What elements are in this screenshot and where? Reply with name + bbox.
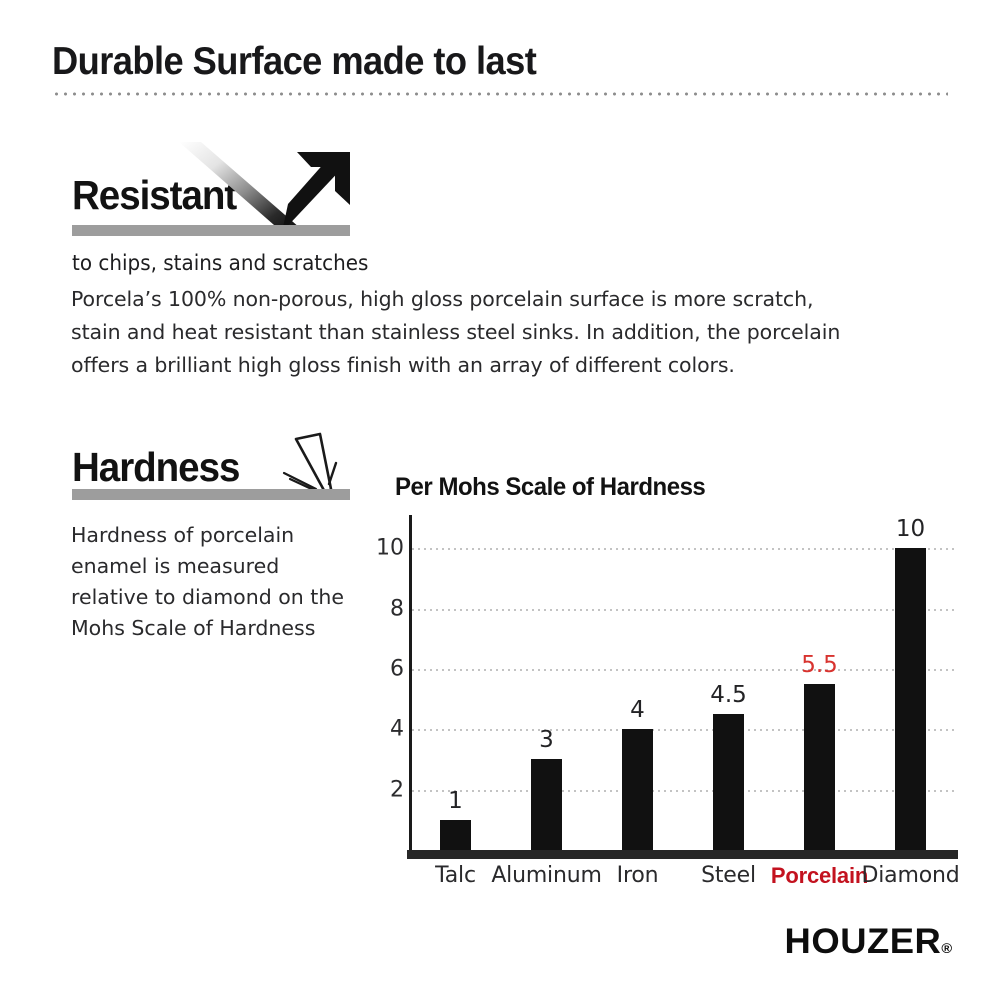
page-title: Durable Surface made to last (52, 40, 536, 84)
resistant-underline-bar (72, 225, 350, 236)
x-axis-line (407, 850, 958, 859)
check-arrow-icon (168, 142, 358, 232)
x-axis-category-label: Iron (617, 863, 659, 888)
resistant-body-line: offers a brilliant high gloss finish wit… (71, 349, 901, 382)
bar-value-label: 4.5 (710, 682, 747, 708)
y-axis-tick-label: 4 (364, 717, 404, 742)
chart-bar (804, 684, 835, 850)
chart-bar (713, 714, 744, 850)
chart-bar (531, 759, 562, 850)
x-axis-category-label: Aluminum (491, 863, 601, 888)
gridline (410, 609, 956, 611)
y-axis-tick-label: 8 (364, 596, 404, 621)
bar-value-label: 10 (896, 516, 925, 542)
resistant-body-line: Porcela’s 100% non-porous, high gloss po… (71, 283, 901, 316)
x-axis-category-label: Diamond (862, 863, 960, 888)
hardness-body: Hardness of porcelain enamel is measured… (71, 520, 371, 644)
logo-wordmark: HOUZER (784, 922, 941, 961)
mohs-hardness-chart: Per Mohs Scale of Hardness 246810 1344.5… (360, 465, 960, 905)
y-axis-tick-label: 10 (364, 536, 404, 561)
y-axis-ticks: 246810 (360, 518, 404, 850)
bar-value-label: 5.5 (801, 652, 838, 678)
chart-plot-area: 1344.55.510 (410, 518, 956, 850)
hardness-body-line: Hardness of porcelain (71, 520, 371, 551)
gridline (410, 669, 956, 671)
bar-value-label: 4 (630, 697, 645, 723)
x-axis-category-label: Steel (701, 863, 756, 888)
hardness-heading: Hardness (72, 447, 250, 488)
gridline (410, 548, 956, 550)
chart-bar (895, 548, 926, 850)
y-axis-tick-label: 2 (364, 777, 404, 802)
houzer-logo: HOUZER® (784, 922, 952, 962)
registered-mark-icon: ® (941, 940, 952, 956)
hardness-body-line: enamel is measured (71, 551, 371, 582)
y-axis-line (409, 515, 412, 853)
resistant-body: Porcela’s 100% non-porous, high gloss po… (71, 283, 901, 382)
x-axis-category-label: Talc (435, 863, 476, 888)
chart-title: Per Mohs Scale of Hardness (395, 473, 705, 502)
resistant-body-line: stain and heat resistant than stainless … (71, 316, 901, 349)
hardness-body-line: Mohs Scale of Hardness (71, 613, 371, 644)
gridline (410, 729, 956, 731)
hardness-underline-bar (72, 489, 350, 500)
x-axis-category-label: Porcelain (771, 863, 868, 889)
y-axis-tick-label: 6 (364, 656, 404, 681)
gridline (410, 790, 956, 792)
chart-bar (622, 729, 653, 850)
hardness-body-line: relative to diamond on the (71, 582, 371, 613)
bar-value-label: 3 (539, 727, 554, 753)
title-divider (52, 92, 948, 96)
bar-value-label: 1 (448, 788, 463, 814)
resistant-subheading: to chips, stains and scratches (72, 251, 368, 275)
chart-bar (440, 820, 471, 850)
